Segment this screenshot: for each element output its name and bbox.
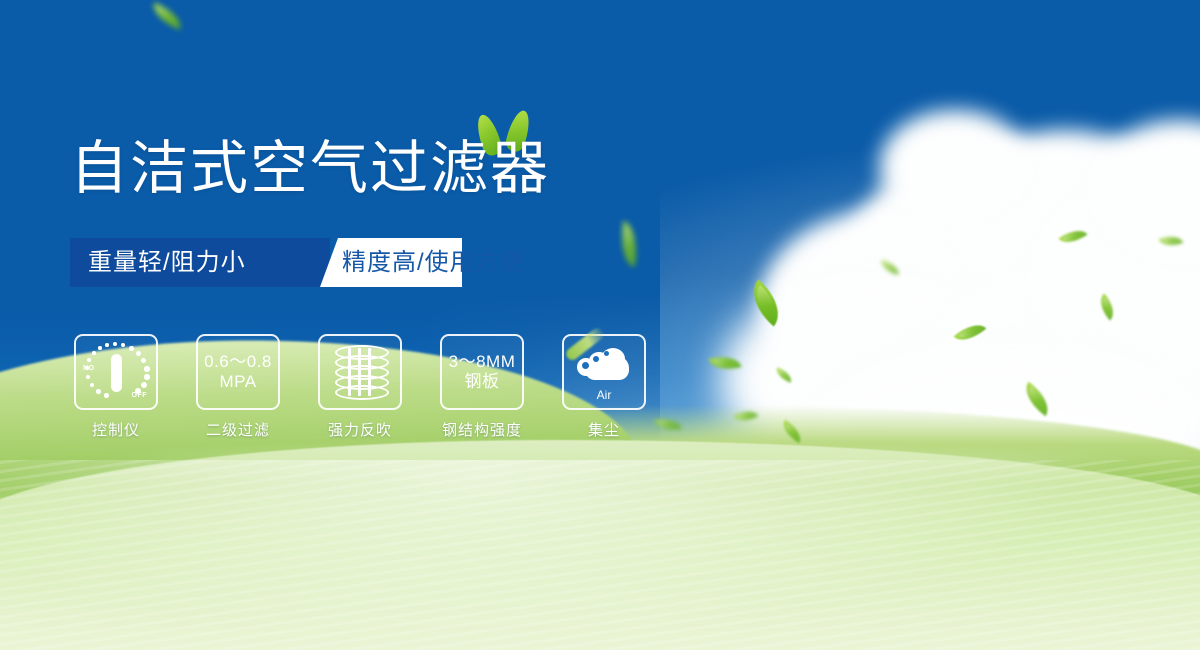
gauge-dial-icon: NO OFF bbox=[83, 342, 149, 402]
feature-icon-text: 3～8MM 钢板 bbox=[449, 352, 516, 392]
feature-icon-box: Air bbox=[562, 334, 646, 410]
feature-icon-box bbox=[318, 334, 402, 410]
feature-icon-box: 0.6～0.8 MPA bbox=[196, 334, 280, 410]
feature-caption: 钢结构强度 bbox=[442, 419, 522, 440]
feature-item-blowback[interactable]: 强力反吹 bbox=[314, 334, 406, 440]
feature-caption: 强力反吹 bbox=[328, 419, 392, 440]
feature-item-filtration[interactable]: 0.6～0.8 MPA 二级过滤 bbox=[192, 334, 284, 440]
feature-icon-text: 0.6～0.8 MPA bbox=[204, 352, 272, 392]
cloud-air-icon: Air bbox=[573, 346, 635, 398]
feature-caption: 控制仪 bbox=[92, 419, 140, 440]
feature-icon-box: NO OFF bbox=[74, 334, 158, 410]
feature-icon-line1: 0.6～0.8 bbox=[204, 352, 272, 371]
feature-item-control[interactable]: NO OFF 控制仪 bbox=[70, 334, 162, 440]
feature-list: NO OFF 控制仪 0.6～0.8 MPA 二级过滤 bbox=[70, 334, 650, 440]
feature-icon-line1: 3～8MM bbox=[449, 352, 516, 371]
gauge-label-no: NO bbox=[83, 365, 95, 372]
gauge-needle bbox=[111, 354, 122, 392]
gauge-label-off: OFF bbox=[132, 392, 148, 399]
banner-left-text: 重量轻/阻力小 bbox=[88, 238, 246, 287]
feature-caption: 集尘 bbox=[588, 419, 620, 440]
hero-banner: 自洁式空气过滤器 重量轻/阻力小 精度高/使用方便 bbox=[0, 0, 1200, 650]
grass-foreground bbox=[0, 440, 1200, 650]
page-title: 自洁式空气过滤器 bbox=[70, 140, 550, 198]
filter-stack-icon bbox=[335, 345, 385, 399]
feature-icon-line2: MPA bbox=[204, 372, 272, 392]
banner-right-text: 精度高/使用方便 bbox=[342, 238, 525, 287]
feature-icon-box: 3～8MM 钢板 bbox=[440, 334, 524, 410]
feature-icon-line2: 钢板 bbox=[449, 372, 516, 392]
cloud-air-label: Air bbox=[573, 388, 635, 402]
feature-item-steel[interactable]: 3～8MM 钢板 钢结构强度 bbox=[436, 334, 528, 440]
feature-item-dust[interactable]: Air 集尘 bbox=[558, 334, 650, 440]
feature-caption: 二级过滤 bbox=[206, 419, 270, 440]
subtitle-banner: 重量轻/阻力小 精度高/使用方便 bbox=[70, 238, 462, 287]
